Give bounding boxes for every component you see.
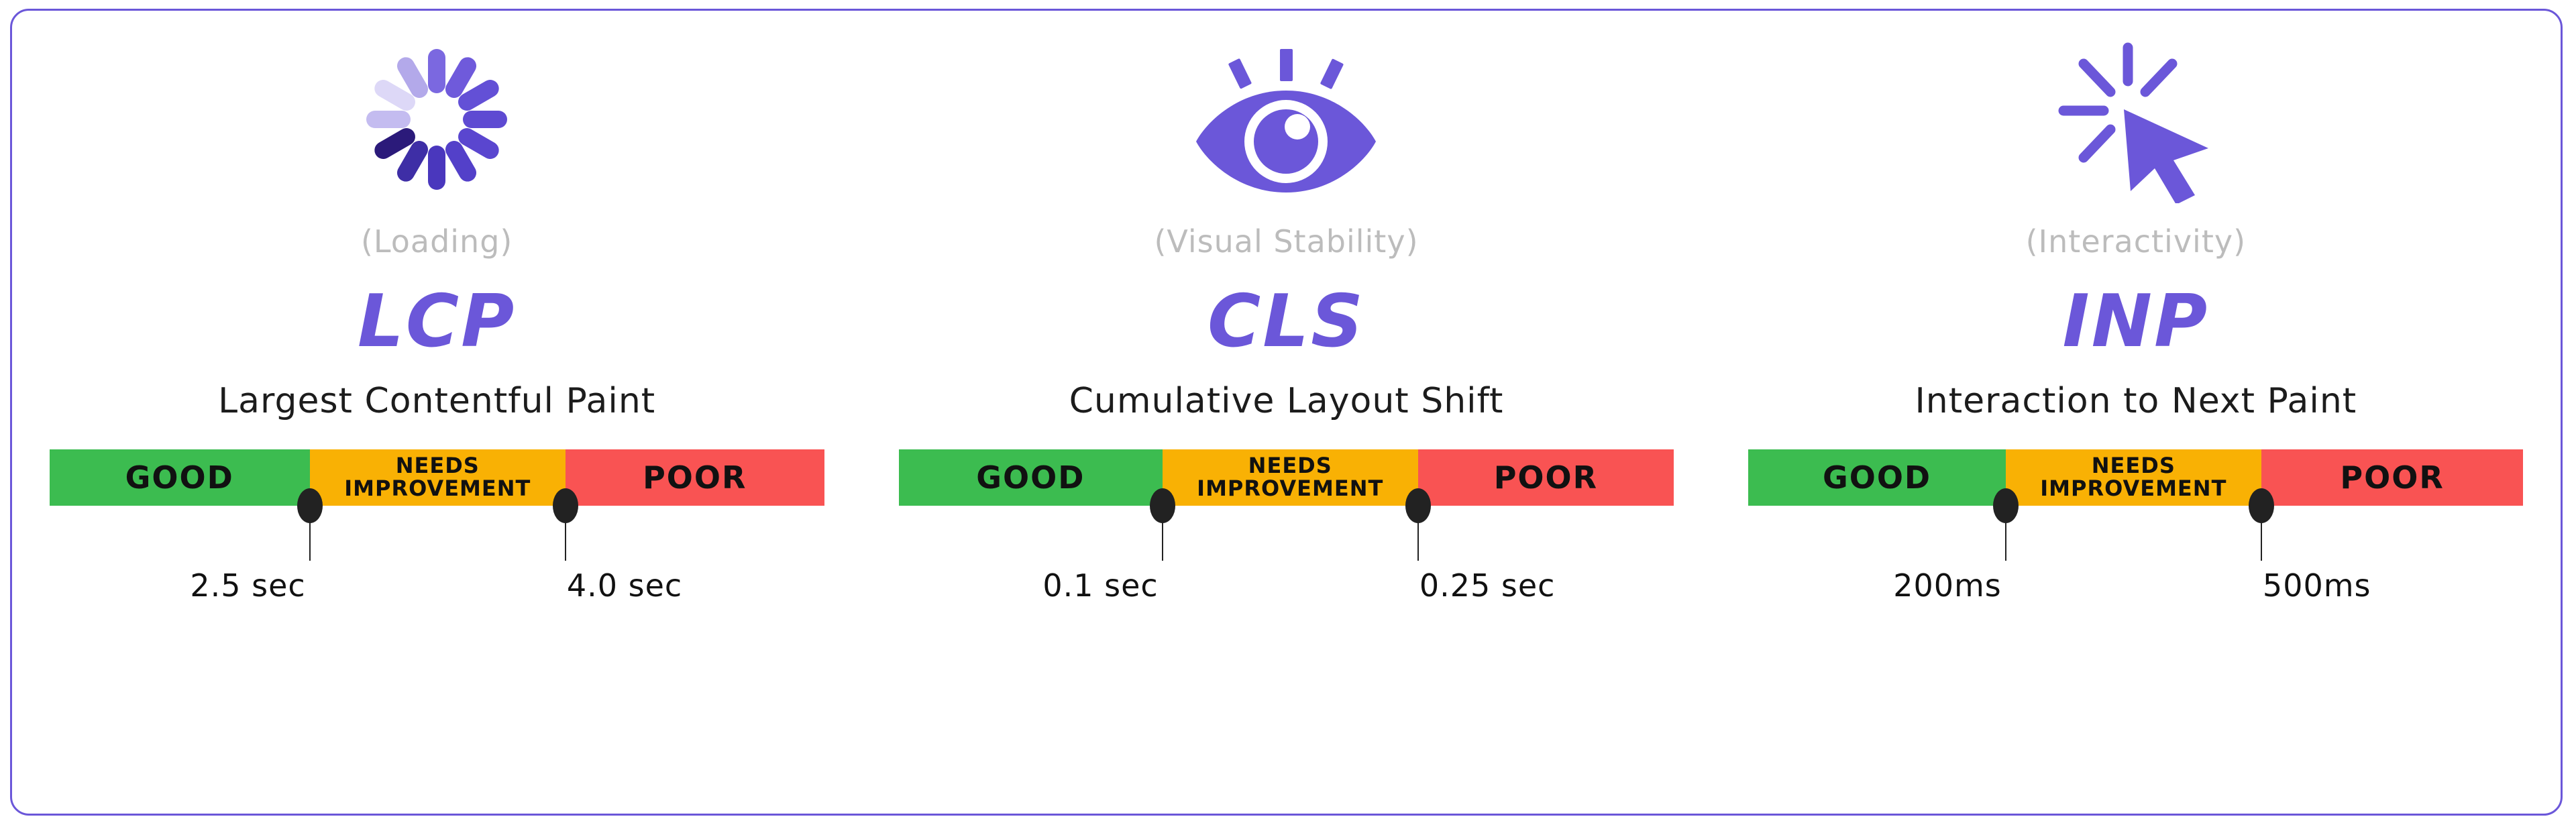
- metric-acronym: INP: [2062, 286, 2209, 361]
- infographic-frame: (Loading) LCP Largest Contentful Paint G…: [10, 9, 2563, 816]
- spinner-segment: [428, 49, 445, 93]
- spinner-segment: [463, 111, 507, 128]
- segment-good: GOOD: [1748, 449, 2005, 506]
- marker-stem: [2261, 522, 2262, 561]
- marker-stem: [2005, 522, 2006, 561]
- threshold-bar: GOOD NEEDS IMPROVEMENT POOR: [1748, 449, 2523, 506]
- segment-poor: POOR: [566, 449, 824, 506]
- metric-acronym: LCP: [358, 286, 516, 361]
- threshold-bar: GOOD NEEDS IMPROVEMENT POOR: [50, 449, 824, 506]
- metric-acronym: CLS: [1207, 286, 1365, 361]
- loading-spinner-icon: [12, 19, 861, 220]
- cursor-click-icon-svg: [2049, 36, 2223, 203]
- marker-dot-icon: [1405, 488, 1431, 523]
- metric-card-lcp: (Loading) LCP Largest Contentful Paint G…: [12, 11, 861, 814]
- threshold-label: 2.5 sec: [190, 567, 305, 604]
- eye-visual-stability-icon: [861, 19, 1711, 220]
- segment-needs-improvement: NEEDS IMPROVEMENT: [1163, 449, 1418, 506]
- metric-card-cls: (Visual Stability) CLS Cumulative Layout…: [861, 11, 1711, 814]
- metric-fullname: Largest Contentful Paint: [218, 381, 655, 423]
- threshold-label: 500ms: [2263, 567, 2371, 604]
- metrics-columns: (Loading) LCP Largest Contentful Paint G…: [12, 11, 2561, 814]
- segment-good: GOOD: [899, 449, 1163, 506]
- metric-fullname: Cumulative Layout Shift: [1069, 381, 1504, 423]
- segment-poor: POOR: [1418, 449, 1674, 506]
- threshold-label: 0.1 sec: [1042, 567, 1158, 604]
- threshold-bar-lcp: GOOD NEEDS IMPROVEMENT POOR 2.5 sec 4.0 …: [50, 449, 824, 671]
- segment-needs-improvement: NEEDS IMPROVEMENT: [2006, 449, 2261, 506]
- marker-stem: [565, 522, 566, 561]
- marker-dot-icon: [297, 488, 323, 523]
- threshold-bar-cls: GOOD NEEDS IMPROVEMENT POOR 0.1 sec 0.25…: [899, 449, 1674, 671]
- spinner-segment: [366, 111, 411, 128]
- marker-dot-icon: [2249, 488, 2274, 523]
- marker-dot-icon: [1150, 488, 1175, 523]
- threshold-label: 200ms: [1893, 567, 2002, 604]
- marker-dot-icon: [1993, 488, 2019, 523]
- eye-icon-svg: [1192, 42, 1380, 197]
- marker-stem: [1417, 522, 1419, 561]
- segment-needs-improvement: NEEDS IMPROVEMENT: [310, 449, 566, 506]
- segment-poor: POOR: [2261, 449, 2523, 506]
- threshold-bar: GOOD NEEDS IMPROVEMENT POOR: [899, 449, 1674, 506]
- threshold-label: 0.25 sec: [1419, 567, 1556, 604]
- metric-card-inp: (Interactivity) INP Interaction to Next …: [1711, 11, 2561, 814]
- metric-caption: (Loading): [361, 220, 513, 263]
- threshold-label: 4.0 sec: [567, 567, 682, 604]
- marker-dot-icon: [553, 488, 578, 523]
- click-cursor-interactivity-icon: [1711, 19, 2561, 220]
- segment-good: GOOD: [50, 449, 310, 506]
- spinner-segment: [428, 146, 445, 190]
- marker-stem: [309, 522, 311, 561]
- metric-caption: (Interactivity): [2026, 220, 2246, 263]
- metric-fullname: Interaction to Next Paint: [1915, 381, 2357, 423]
- threshold-bar-inp: GOOD NEEDS IMPROVEMENT POOR 200ms 500ms: [1748, 449, 2523, 671]
- metric-caption: (Visual Stability): [1154, 220, 1418, 263]
- marker-stem: [1162, 522, 1163, 561]
